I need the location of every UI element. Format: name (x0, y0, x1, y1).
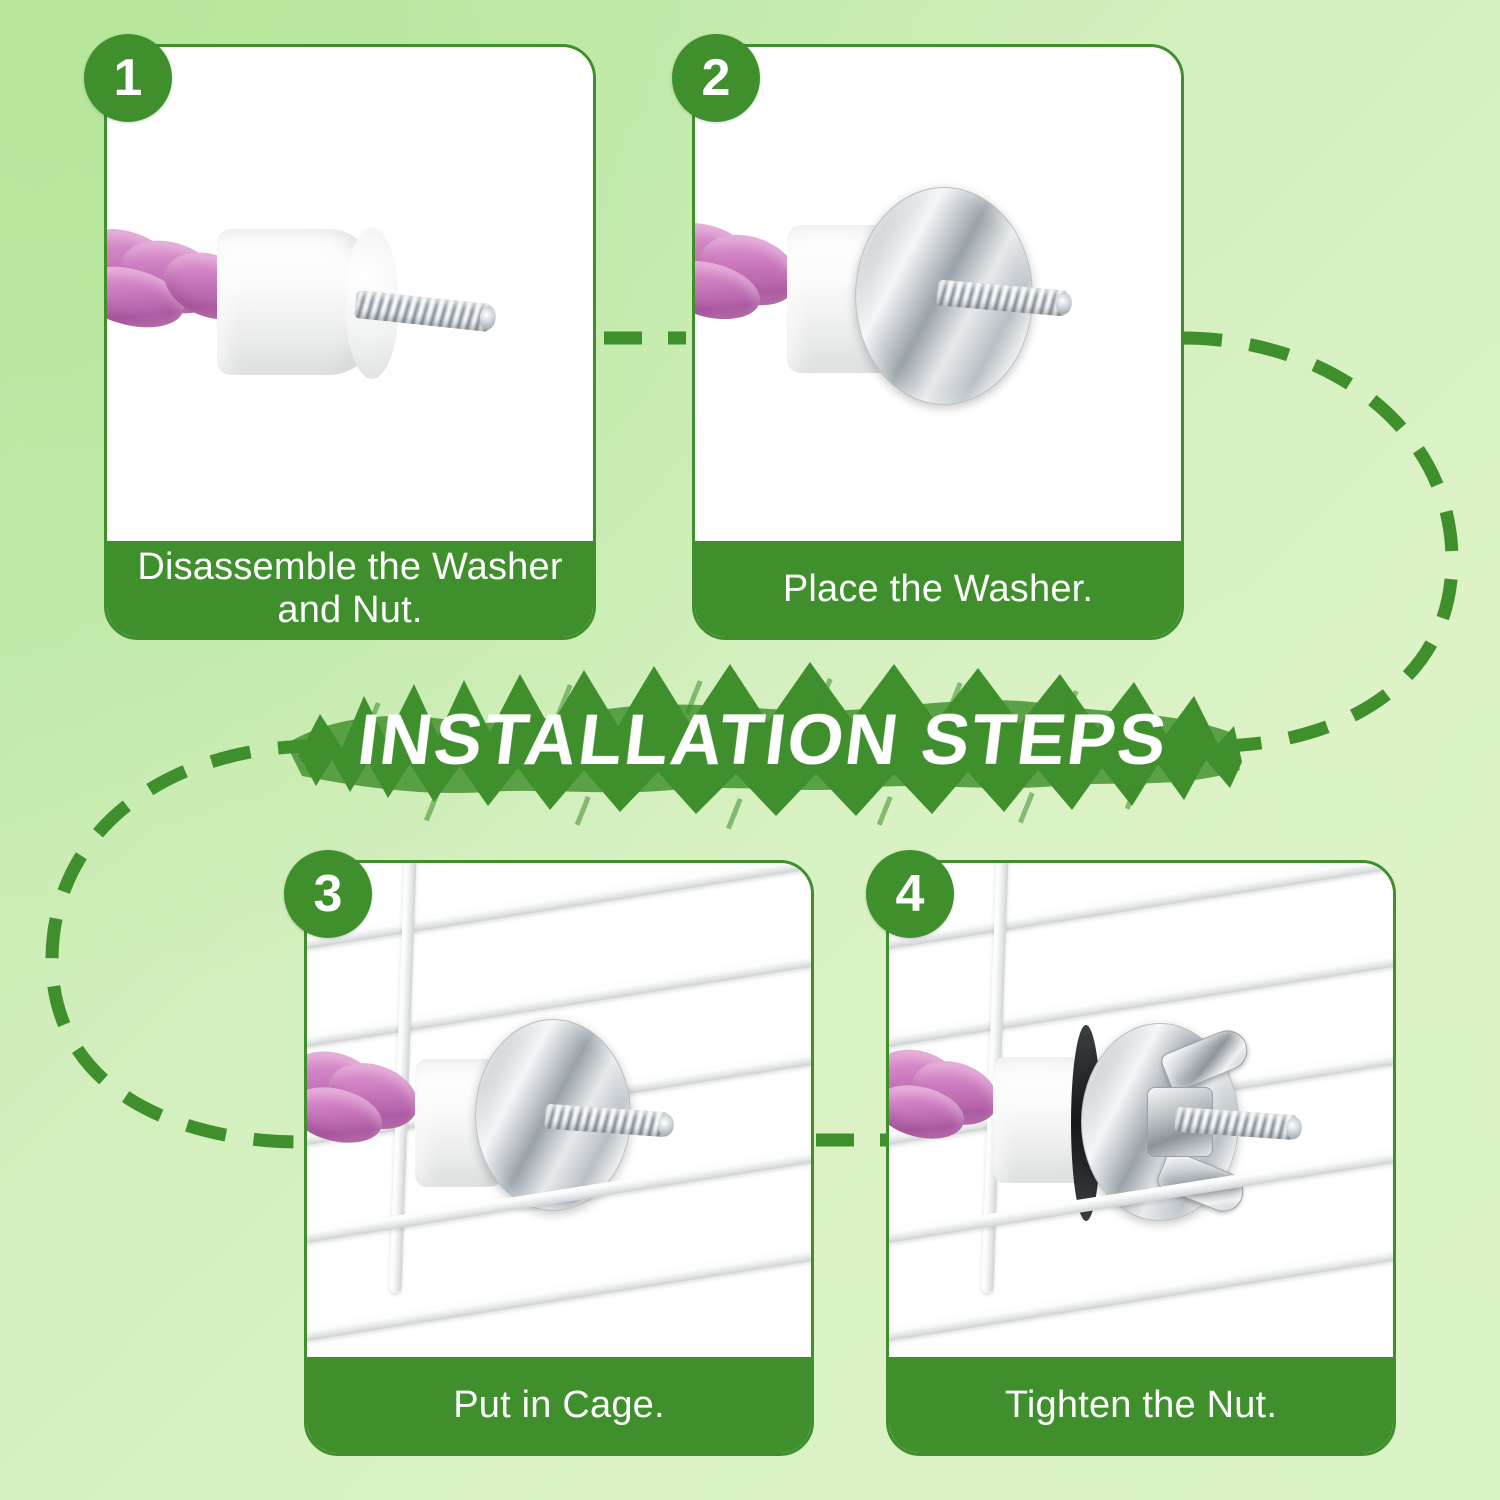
cage-wire-horizontal (889, 1238, 1393, 1345)
step-panel-2: Place the Washer. (692, 44, 1184, 640)
infographic-root: Disassemble the Washer and Nut. 1 Place … (0, 0, 1500, 1500)
step-4-illustration (889, 863, 1393, 1357)
step-badge-1: 1 (84, 34, 172, 122)
step-panel-3: Put in Cage. (304, 860, 814, 1456)
cage-wire-horizontal (307, 863, 811, 953)
step-2-illustration (695, 47, 1181, 541)
step-badge-3-number: 3 (314, 864, 343, 924)
step-badge-3: 3 (284, 850, 372, 938)
cage-wire-horizontal (889, 863, 1393, 953)
step-1-caption: Disassemble the Washer and Nut. (107, 541, 593, 637)
step-badge-1-number: 1 (114, 48, 143, 108)
banner: INSTALLATION STEPS (268, 640, 1258, 840)
step-badge-4: 4 (866, 850, 954, 938)
step-panel-4: Tighten the Nut. (886, 860, 1396, 1456)
step-2-caption: Place the Washer. (695, 541, 1181, 637)
step-4-caption: Tighten the Nut. (889, 1357, 1393, 1453)
step-badge-2: 2 (672, 34, 760, 122)
step-3-caption: Put in Cage. (307, 1357, 811, 1453)
cage-wire-horizontal (307, 1238, 811, 1345)
step-badge-4-number: 4 (896, 864, 925, 924)
step-1-illustration (107, 47, 593, 541)
step-panel-1: Disassemble the Washer and Nut. (104, 44, 596, 640)
banner-title: INSTALLATION STEPS (256, 640, 1271, 840)
step-badge-2-number: 2 (702, 48, 731, 108)
step-3-illustration (307, 863, 811, 1357)
